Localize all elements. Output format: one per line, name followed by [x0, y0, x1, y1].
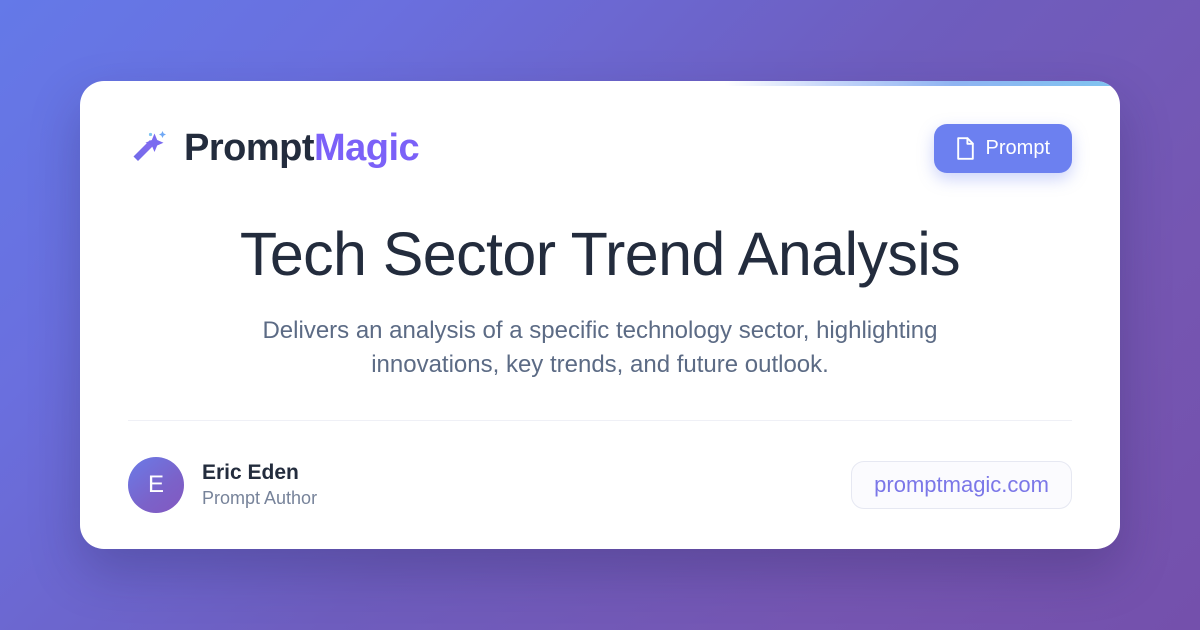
share-card: PromptMagic Prompt Tech Sector Trend Ana… [80, 81, 1120, 549]
page-subtitle: Delivers an analysis of a specific techn… [228, 314, 973, 384]
page-title: Tech Sector Trend Analysis [240, 222, 960, 288]
card-header: PromptMagic Prompt [128, 81, 1072, 203]
author-block: E Eric Eden Prompt Author [128, 457, 317, 513]
magic-wand-icon [128, 127, 170, 169]
website-badge[interactable]: promptmagic.com [851, 461, 1072, 509]
brand-name: PromptMagic [184, 129, 419, 167]
card-main: Tech Sector Trend Analysis Delivers an a… [128, 203, 1072, 420]
document-icon [956, 137, 975, 160]
top-accent-strip [80, 81, 1120, 86]
author-name: Eric Eden [202, 460, 317, 485]
prompt-button-label: Prompt [986, 137, 1050, 160]
brand-name-magic: Magic [314, 127, 419, 169]
card-footer: E Eric Eden Prompt Author promptmagic.co… [128, 421, 1072, 549]
brand-logo[interactable]: PromptMagic [128, 127, 419, 169]
brand-name-prompt: Prompt [184, 127, 314, 169]
avatar: E [128, 457, 184, 513]
author-text: Eric Eden Prompt Author [202, 460, 317, 510]
prompt-button[interactable]: Prompt [934, 124, 1072, 173]
author-role: Prompt Author [202, 488, 317, 510]
